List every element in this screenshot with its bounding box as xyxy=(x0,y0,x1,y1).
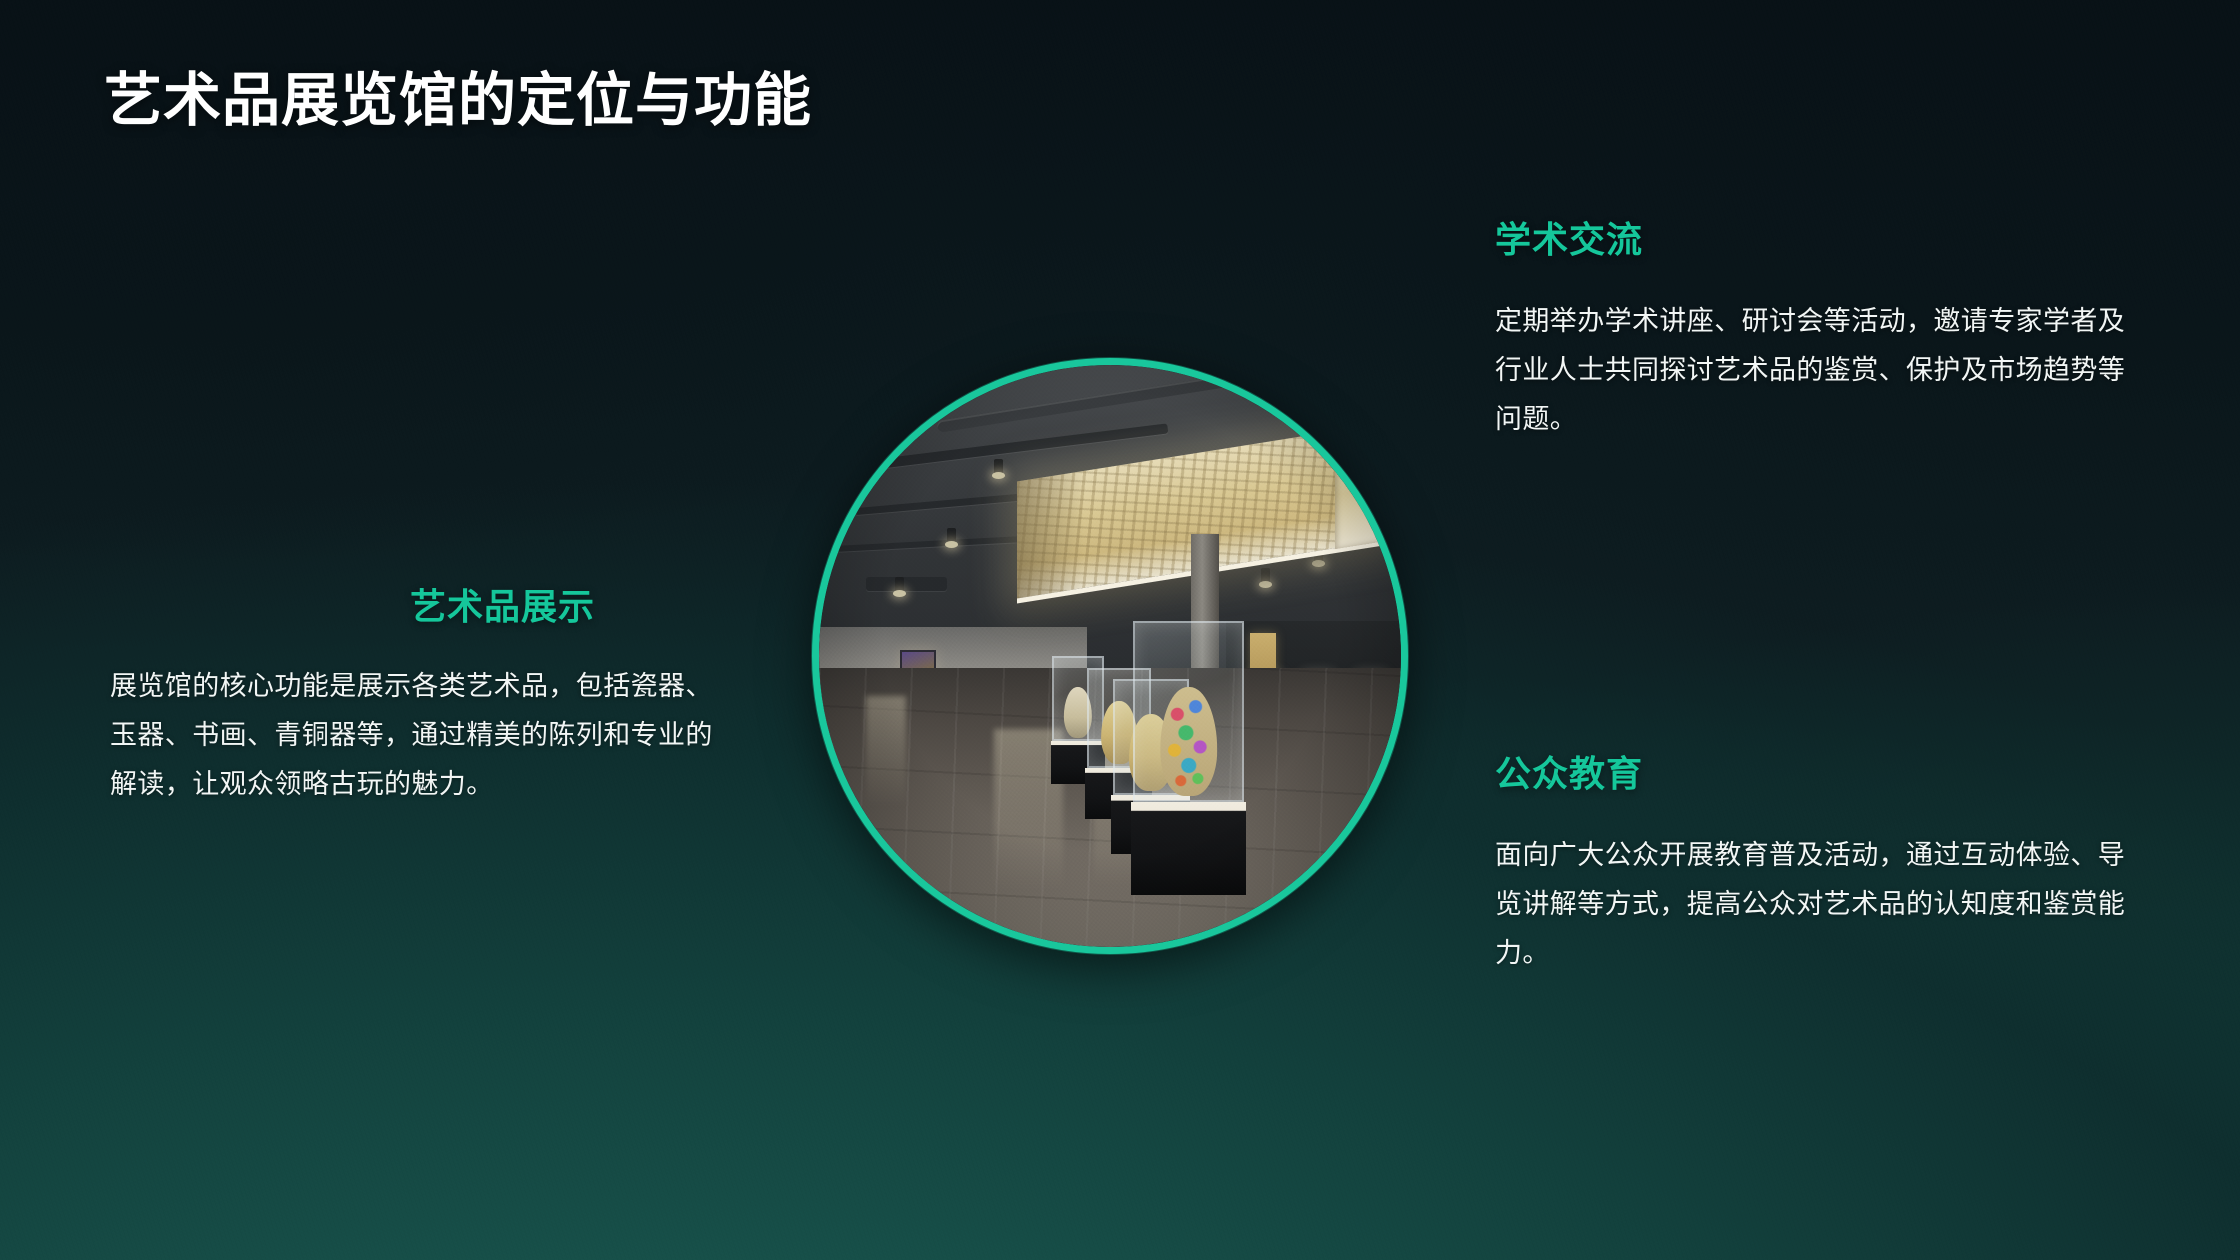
slide-canvas: 艺术品展览馆的定位与功能 艺术品展示 展览馆的核心功能是展示各类艺术品，包括瓷器… xyxy=(0,0,2240,1260)
page-title: 艺术品展览馆的定位与功能 xyxy=(104,68,812,135)
content-block-display: 艺术品展示 展览馆的核心功能是展示各类艺术品，包括瓷器、玉器、书画、青铜器等，通… xyxy=(110,585,730,810)
gallery-photo-image xyxy=(819,365,1401,947)
block-heading-academic: 学术交流 xyxy=(1495,218,2135,261)
block-body-display: 展览馆的核心功能是展示各类艺术品，包括瓷器、玉器、书画、青铜器等，通过精美的陈列… xyxy=(110,662,730,809)
content-block-academic: 学术交流 定期举办学术讲座、研讨会等活动，邀请专家学者及行业人士共同探讨艺术品的… xyxy=(1495,218,2135,445)
content-block-education: 公众教育 面向广大公众开展教育普及活动，通过互动体验、导览讲解等方式，提高公众对… xyxy=(1495,752,2135,979)
photo-grain xyxy=(819,365,1401,947)
block-heading-display: 艺术品展示 xyxy=(410,585,730,628)
block-body-academic: 定期举办学术讲座、研讨会等活动，邀请专家学者及行业人士共同探讨艺术品的鉴赏、保护… xyxy=(1495,297,2135,444)
block-heading-education: 公众教育 xyxy=(1495,752,2135,795)
gallery-photo-circle xyxy=(812,358,1408,954)
block-body-education: 面向广大公众开展教育普及活动，通过互动体验、导览讲解等方式，提高公众对艺术品的认… xyxy=(1495,831,2135,978)
